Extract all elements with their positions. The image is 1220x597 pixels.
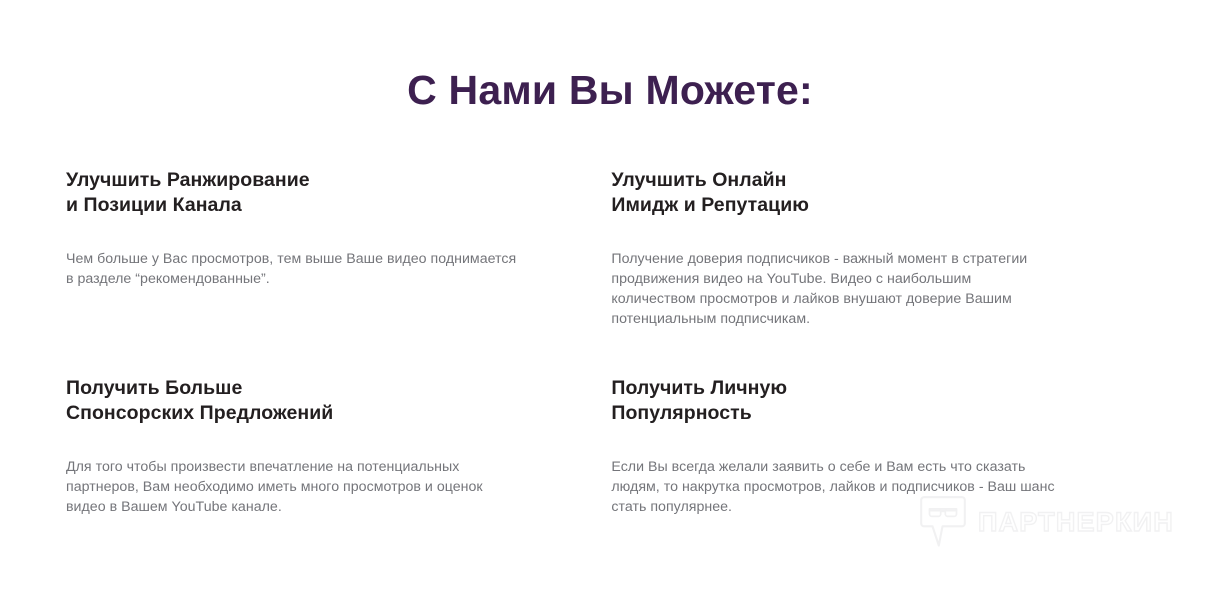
benefit-body: Получение доверия подписчиков - важный м… <box>611 218 1156 329</box>
benefit-heading: Получить Личную Популярность <box>611 376 1156 426</box>
benefit-body: Для того чтобы произвести впечатление на… <box>66 426 591 517</box>
benefit-body-line-1: Получение доверия подписчиков - важный м… <box>611 249 1156 269</box>
benefit-heading-line-2: Спонсорских Предложений <box>66 401 591 426</box>
benefit-body-line-3: видео в Вашем YouTube канале. <box>66 497 591 517</box>
benefit-heading: Улучшить Ранжирование и Позиции Канала <box>66 168 591 218</box>
benefit-heading-line-1: Получить Личную <box>611 376 1156 401</box>
benefits-grid: Улучшить Ранжирование и Позиции Канала Ч… <box>66 168 1156 517</box>
benefit-heading-line-2: Имидж и Репутацию <box>611 193 1156 218</box>
benefit-heading-line-1: Получить Больше <box>66 376 591 401</box>
benefit-block-popularity: Получить Личную Популярность Если Вы все… <box>611 376 1156 517</box>
benefits-row-1: Улучшить Ранжирование и Позиции Канала Ч… <box>66 168 1156 338</box>
benefit-body-line-3: количеством просмотров и лайков внушают … <box>611 289 1156 309</box>
benefit-body-line-2: продвижения видео на YouTube. Видео с на… <box>611 269 1156 289</box>
benefit-body: Чем больше у Вас просмотров, тем выше Ва… <box>66 218 591 289</box>
benefit-block-image: Улучшить Онлайн Имидж и Репутацию Получе… <box>611 168 1156 338</box>
benefit-body-line-1: Если Вы всегда желали заявить о себе и В… <box>611 457 1156 477</box>
benefit-heading: Улучшить Онлайн Имидж и Репутацию <box>611 168 1156 218</box>
benefit-heading-line-1: Улучшить Ранжирование <box>66 168 591 193</box>
benefit-body: Если Вы всегда желали заявить о себе и В… <box>611 426 1156 517</box>
benefit-block-ranking: Улучшить Ранжирование и Позиции Канала Ч… <box>66 168 611 338</box>
page-title: С Нами Вы Можете: <box>0 65 1220 115</box>
benefit-body-line-2: людям, то накрутка просмотров, лайков и … <box>611 477 1156 497</box>
benefits-row-2: Получить Больше Спонсорских Предложений … <box>66 376 1156 517</box>
benefit-body-line-1: Для того чтобы произвести впечатление на… <box>66 457 591 477</box>
benefit-block-sponsors: Получить Больше Спонсорских Предложений … <box>66 376 611 517</box>
benefit-heading-line-2: и Позиции Канала <box>66 193 591 218</box>
benefit-body-line-2: в разделе “рекомендованные”. <box>66 269 591 289</box>
benefits-section: С Нами Вы Можете: Улучшить Ранжирование … <box>0 0 1220 597</box>
benefit-body-line-4: потенциальным подписчикам. <box>611 309 1156 329</box>
benefit-heading-line-2: Популярность <box>611 401 1156 426</box>
benefit-body-line-3: стать популярнее. <box>611 497 1156 517</box>
benefit-body-line-1: Чем больше у Вас просмотров, тем выше Ва… <box>66 249 591 269</box>
benefit-body-line-2: партнеров, Вам необходимо иметь много пр… <box>66 477 591 497</box>
benefit-heading-line-1: Улучшить Онлайн <box>611 168 1156 193</box>
benefit-heading: Получить Больше Спонсорских Предложений <box>66 376 591 426</box>
